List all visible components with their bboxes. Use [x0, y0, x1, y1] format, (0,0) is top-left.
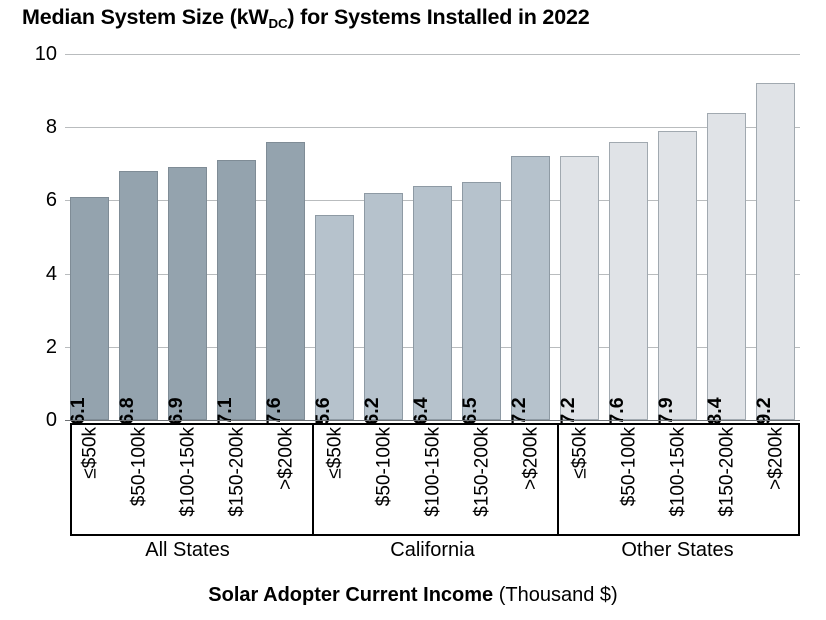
x-axis-title: Solar Adopter Current Income (Thousand $…: [0, 584, 826, 607]
bar: 6.9: [168, 167, 206, 420]
category-tick: $50-100k: [114, 423, 163, 533]
category-tick-label: $150-200k: [472, 427, 491, 517]
category-tick-label: $150-200k: [717, 427, 736, 517]
bar: 8.4: [707, 113, 745, 420]
group-labels: All StatesCaliforniaOther States: [65, 538, 800, 564]
plot-area: 6.16.86.97.17.65.66.26.46.57.27.27.67.98…: [65, 54, 800, 420]
category-tick: ≤$50k: [310, 423, 359, 533]
bar-series: 6.16.86.97.17.65.66.26.46.57.27.27.67.98…: [65, 54, 800, 420]
category-tick-label: ≤$50k: [325, 427, 344, 479]
group-label: All States: [65, 538, 310, 562]
category-tick-label: >$200k: [766, 427, 785, 490]
x-axis-title-unit: (Thousand $): [499, 584, 618, 606]
y-axis-tick-label: 6: [5, 190, 57, 210]
chart-title-main: Median System Size (kW: [22, 5, 269, 29]
x-axis-title-main: Solar Adopter Current Income: [208, 584, 493, 606]
bar: 7.9: [658, 131, 696, 420]
category-tick-label: ≤$50k: [570, 427, 589, 479]
chart-title-rest: ) for Systems Installed in 2022: [287, 5, 589, 29]
y-axis-tick-label: 4: [5, 264, 57, 284]
category-tick: >$200k: [261, 423, 310, 533]
bar: 7.6: [266, 142, 304, 420]
category-tick-label: >$200k: [276, 427, 295, 490]
category-tick: $150-200k: [702, 423, 751, 533]
category-tick-label: ≤$50k: [80, 427, 99, 479]
category-tick: $50-100k: [604, 423, 653, 533]
category-tick-label: $100-150k: [668, 427, 687, 517]
bar: 7.2: [511, 156, 549, 420]
bar: 6.4: [413, 186, 451, 420]
y-axis: 0246810: [0, 54, 57, 420]
category-tick: $100-150k: [653, 423, 702, 533]
bar: 5.6: [315, 215, 353, 420]
y-axis-tick-label: 10: [5, 44, 57, 64]
group-label: Other States: [555, 538, 800, 562]
category-tick: ≤$50k: [555, 423, 604, 533]
chart-title: Median System Size (kWDC) for Systems In…: [22, 5, 589, 30]
group-label: California: [310, 538, 555, 562]
category-labels: ≤$50k$50-100k$100-150k$150-200k>$200k≤$5…: [65, 423, 800, 536]
category-tick: ≤$50k: [65, 423, 114, 533]
category-tick-label: $100-150k: [423, 427, 442, 517]
category-tick: $100-150k: [408, 423, 457, 533]
chart-container: Median System Size (kWDC) for Systems In…: [0, 0, 826, 620]
category-tick-label: $50-100k: [619, 427, 638, 506]
bar: 7.1: [217, 160, 255, 420]
category-tick: $150-200k: [212, 423, 261, 533]
chart-title-subscript: DC: [269, 16, 288, 31]
category-tick-label: $100-150k: [178, 427, 197, 517]
y-axis-tick-label: 8: [5, 117, 57, 137]
bar: 9.2: [756, 83, 794, 420]
bar: 6.8: [119, 171, 157, 420]
category-tick: >$200k: [751, 423, 800, 533]
bar: 6.2: [364, 193, 402, 420]
y-axis-tick-label: 0: [5, 410, 57, 430]
category-tick-label: >$200k: [521, 427, 540, 490]
category-tick-label: $150-200k: [227, 427, 246, 517]
bar: 7.2: [560, 156, 598, 420]
bar: 7.6: [609, 142, 647, 420]
zero-axis-line: [65, 420, 800, 421]
bar: 6.5: [462, 182, 500, 420]
category-tick-label: $50-100k: [374, 427, 393, 506]
category-tick-label: $50-100k: [129, 427, 148, 506]
category-tick: $150-200k: [457, 423, 506, 533]
y-axis-tick-label: 2: [5, 337, 57, 357]
category-tick: >$200k: [506, 423, 555, 533]
bar: 6.1: [70, 197, 108, 420]
category-tick: $100-150k: [163, 423, 212, 533]
category-tick: $50-100k: [359, 423, 408, 533]
